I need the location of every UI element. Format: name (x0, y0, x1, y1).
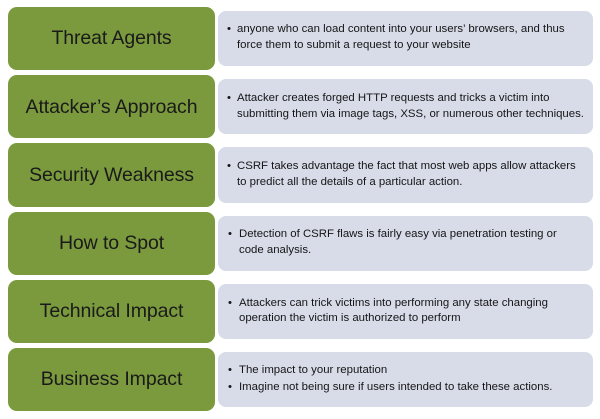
risk-label-pill: How to Spot (8, 212, 215, 275)
risk-bullet-list: •Detection of CSRF flaws is fairly easy … (226, 227, 584, 258)
risk-detail-panel: •The impact to your reputation •Imagine … (218, 352, 593, 407)
risk-detail-panel: •CSRF takes advantage the fact that most… (218, 147, 593, 202)
risk-label-text: Attacker’s Approach (26, 96, 198, 118)
risk-detail-panel: •Attacker creates forged HTTP requests a… (218, 79, 593, 134)
risk-bullet-list: •CSRF takes advantage the fact that most… (226, 159, 584, 190)
bullet-dot-icon: • (227, 91, 231, 107)
risk-detail-cell: •Detection of CSRF flaws is fairly easy … (218, 210, 593, 278)
risk-label-pill: Business Impact (8, 348, 215, 411)
risk-detail-cell: •The impact to your reputation •Imagine … (218, 346, 593, 414)
risk-bullet-item: •Detection of CSRF flaws is fairly easy … (226, 227, 584, 258)
risk-bullet-text: CSRF takes advantage the fact that most … (237, 160, 576, 188)
bullet-dot-icon: • (228, 363, 232, 379)
risk-bullet-item: •Attacker creates forged HTTP requests a… (226, 91, 584, 122)
risk-detail-panel: •anyone who can load content into your u… (218, 11, 593, 66)
risk-bullet-text: Attackers can trick victims into perform… (239, 297, 548, 325)
risk-detail-cell: •CSRF takes advantage the fact that most… (218, 141, 593, 209)
risk-bullet-text: Detection of CSRF flaws is fairly easy v… (239, 228, 557, 256)
risk-label-pill: Security Weakness (8, 143, 215, 206)
risk-detail-panel: •Attackers can trick victims into perfor… (218, 284, 593, 339)
risk-bullet-text: The impact to your reputation (239, 364, 387, 376)
bullet-dot-icon: • (227, 159, 231, 175)
bullet-dot-icon: • (227, 22, 231, 38)
risk-label-cell: Threat Agents (8, 5, 215, 73)
risk-label-text: Business Impact (41, 368, 183, 390)
risk-row: Attacker’s Approach •Attacker creates fo… (8, 73, 593, 141)
risk-label-text: How to Spot (59, 232, 164, 254)
risk-label-pill: Attacker’s Approach (8, 75, 215, 138)
risk-row: Technical Impact •Attackers can trick vi… (8, 278, 593, 346)
risk-detail-cell: •Attacker creates forged HTTP requests a… (218, 73, 593, 141)
risk-bullet-item: •Imagine not being sure if users intende… (226, 380, 584, 396)
risk-bullet-text: anyone who can load content into your us… (237, 23, 565, 51)
risk-detail-cell: •anyone who can load content into your u… (218, 5, 593, 73)
risk-label-pill: Technical Impact (8, 280, 215, 343)
risk-bullet-item: •Attackers can trick victims into perfor… (226, 296, 584, 327)
risk-detail-cell: •Attackers can trick victims into perfor… (218, 278, 593, 346)
csrf-risk-diagram: Threat Agents •anyone who can load conte… (0, 0, 600, 419)
bullet-dot-icon: • (228, 227, 232, 243)
risk-label-text: Threat Agents (51, 27, 171, 49)
risk-bullet-list: •The impact to your reputation •Imagine … (226, 363, 584, 395)
risk-bullet-list: •anyone who can load content into your u… (226, 22, 584, 53)
risk-row: Threat Agents •anyone who can load conte… (8, 5, 593, 73)
risk-bullet-list: •Attackers can trick victims into perfor… (226, 296, 584, 327)
risk-bullet-text: Attacker creates forged HTTP requests an… (237, 92, 584, 120)
risk-row: Security Weakness •CSRF takes advantage … (8, 141, 593, 209)
risk-row: Business Impact •The impact to your repu… (8, 346, 593, 414)
risk-bullet-list: •Attacker creates forged HTTP requests a… (226, 91, 584, 122)
risk-detail-panel: •Detection of CSRF flaws is fairly easy … (218, 216, 593, 271)
risk-label-pill: Threat Agents (8, 7, 215, 70)
risk-label-text: Technical Impact (40, 300, 184, 322)
bullet-dot-icon: • (228, 296, 232, 312)
risk-label-text: Security Weakness (29, 164, 194, 186)
risk-label-cell: Technical Impact (8, 278, 215, 346)
risk-label-cell: How to Spot (8, 210, 215, 278)
risk-row: How to Spot •Detection of CSRF flaws is … (8, 210, 593, 278)
risk-bullet-item: •The impact to your reputation (226, 363, 584, 379)
risk-bullet-text: Imagine not being sure if users intended… (239, 381, 552, 393)
bullet-dot-icon: • (228, 380, 232, 396)
risk-label-cell: Security Weakness (8, 141, 215, 209)
risk-bullet-item: •anyone who can load content into your u… (226, 22, 584, 53)
risk-label-cell: Business Impact (8, 346, 215, 414)
risk-label-cell: Attacker’s Approach (8, 73, 215, 141)
risk-bullet-item: •CSRF takes advantage the fact that most… (226, 159, 584, 190)
